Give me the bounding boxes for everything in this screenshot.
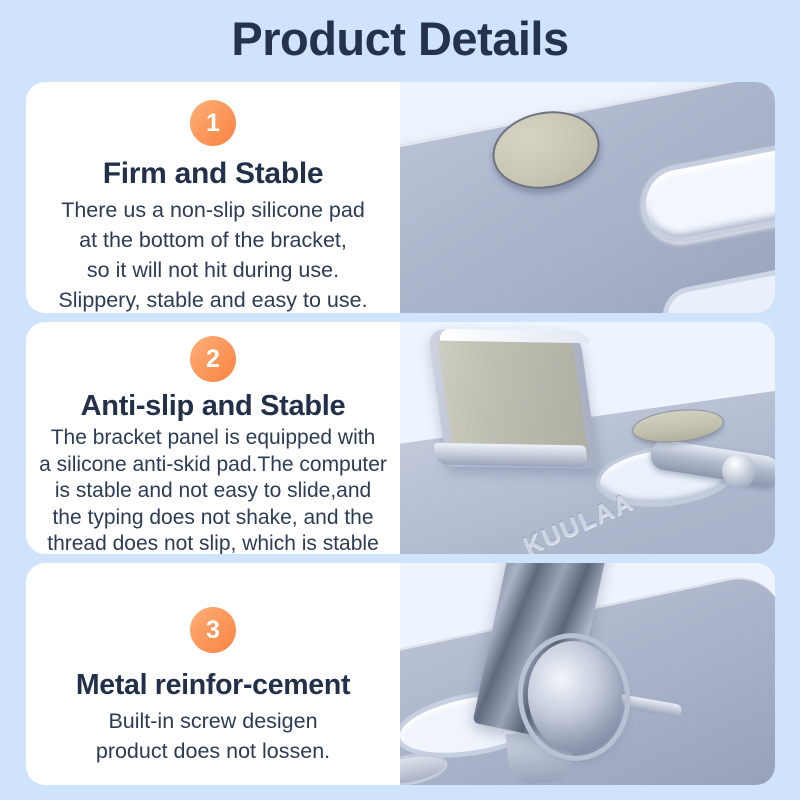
- feature-body-line-2-4: the typing does not shake, and the: [52, 505, 373, 532]
- feature-body-line-1-2: at the bottom of the bracket,: [79, 226, 347, 254]
- feature-body-line-2-5: thread does not slip, which is stable: [47, 531, 379, 554]
- step-number-badge-1: 1: [190, 100, 236, 146]
- step-number-badge-2: 2: [190, 336, 236, 382]
- feature-card-1-text: 1 Firm and Stable There us a non-slip si…: [26, 82, 400, 313]
- step-number-badge-3: 3: [190, 607, 236, 653]
- feature-heading-2: Anti-slip and Stable: [81, 387, 346, 425]
- feature-body-line-2-2: a silicone anti-skid pad.The computer: [39, 452, 387, 479]
- feature-body-line-3-1: Built-in screw desigen: [108, 707, 317, 735]
- feature-card-1: 1 Firm and Stable There us a non-slip si…: [26, 82, 775, 313]
- product-photo-2: KUULAA: [400, 322, 775, 554]
- feature-body-line-2-3: is stable and not easy to slide,and: [55, 478, 371, 505]
- feature-card-2-text: 2 Anti-slip and Stable The bracket panel…: [26, 322, 400, 554]
- feature-body-line-1-1: There us a non-slip silicone pad: [61, 196, 365, 224]
- feature-heading-1: Firm and Stable: [103, 154, 324, 194]
- feature-body-line-1-3: so it will not hit during use.: [87, 256, 339, 284]
- product-details-page: Product Details 1 Firm and Stable There …: [0, 0, 800, 800]
- bracket-lip-foot: [434, 443, 589, 467]
- feature-card-3-text: 3 Metal reinfor-cement Built-in screw de…: [26, 563, 400, 785]
- product-photo-3: [400, 563, 775, 785]
- feature-card-2: 2 Anti-slip and Stable The bracket panel…: [26, 322, 775, 554]
- feature-body-line-2-1: The bracket panel is equipped with: [51, 425, 376, 452]
- product-photo-1: [400, 82, 775, 313]
- feature-body-line-3-2: product does not lossen.: [96, 737, 330, 765]
- feature-heading-3: Metal reinfor-cement: [76, 665, 350, 705]
- page-title: Product Details: [0, 8, 800, 70]
- bracket-lip-silicone-face: [437, 335, 590, 460]
- feature-card-3: 3 Metal reinfor-cement Built-in screw de…: [26, 563, 775, 785]
- feature-body-line-1-4: Slippery, stable and easy to use.: [58, 286, 367, 313]
